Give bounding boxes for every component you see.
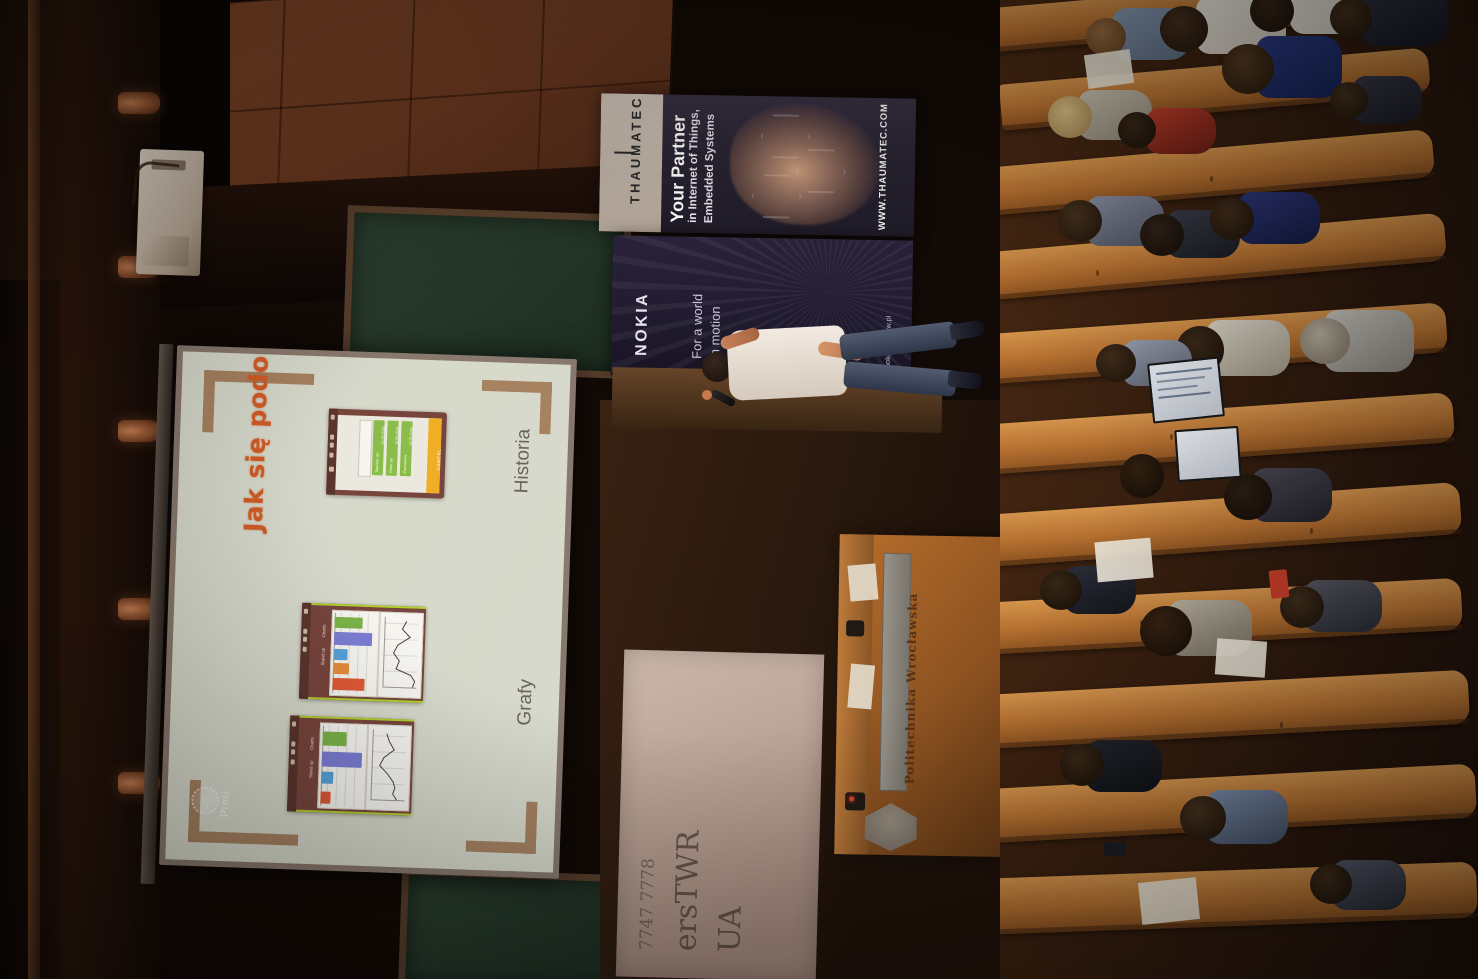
clock-icon	[304, 609, 308, 614]
wifi-icon	[330, 443, 334, 448]
battery-icon	[291, 759, 295, 764]
phone-mock-charts-2: Stand up Charts	[287, 715, 414, 815]
wall-lamp	[118, 92, 160, 114]
list-item[interactable]: Retro spr. 16.05.2015	[386, 421, 399, 476]
wall-lamp	[118, 420, 160, 442]
prezi-seal-icon	[191, 786, 220, 815]
battery-icon	[329, 453, 333, 458]
line-chart-path	[366, 725, 411, 810]
clock-icon	[331, 415, 335, 420]
signal-icon	[291, 741, 295, 746]
list-item[interactable]: Standup spr. 14.05.2015	[372, 420, 385, 475]
bar-chart	[329, 610, 380, 698]
projection-screen: Jak się podobało Historia Grafy Focus Me…	[159, 345, 577, 879]
smartphone[interactable]	[1104, 842, 1126, 856]
lecture-hall-photo: Jak się podobało Historia Grafy Focus Me…	[0, 0, 1478, 979]
bar-chart	[317, 722, 368, 810]
frame-bracket	[188, 831, 298, 846]
cancel-button[interactable]: CANCEL	[426, 418, 442, 493]
wall-rail	[28, 0, 40, 979]
lectern-plaque: Politechnika Wrocławska	[879, 553, 911, 791]
phone-mock-focus-meter: Focus Meter Your previous meetings Stand…	[326, 409, 447, 499]
whiteboard: UA ersTWR 7747 7778	[616, 649, 824, 979]
frame-bracket	[539, 382, 552, 434]
paper-sheet	[1215, 638, 1267, 677]
wifi-icon	[303, 637, 307, 642]
presenter-legs	[840, 324, 970, 400]
search-input[interactable]	[358, 420, 373, 477]
university-crest-icon	[864, 803, 917, 852]
whiteboard-text-1: UA	[712, 906, 748, 953]
line-chart	[365, 724, 412, 811]
projector-mount	[132, 160, 179, 209]
accent-bar	[311, 603, 426, 609]
banner-url: WWW.THAUMATEC.COM	[877, 103, 890, 230]
clock-icon	[292, 721, 296, 726]
accent-bar	[299, 716, 414, 722]
phone-status-bar	[287, 715, 299, 811]
chart-phone-subheader: Charts	[309, 737, 314, 750]
prezi-slide: Jak się podobało Historia Grafy Focus Me…	[165, 351, 570, 872]
nokia-logo: NOKIA	[633, 292, 652, 356]
chart-phone-header: Stand up	[308, 760, 314, 778]
bar-neutral	[334, 632, 372, 646]
slide-title: Jak się podobało	[239, 351, 276, 532]
frame-bracket	[525, 802, 538, 854]
banner-logo-panel: THAUMATEC	[599, 93, 663, 232]
paper-sheet	[1138, 877, 1200, 925]
paper-sheet	[1094, 538, 1153, 583]
line-chart-path	[378, 612, 423, 697]
bench-row	[1000, 862, 1478, 935]
bar-neutral	[322, 751, 362, 767]
slide-label-historia: Historia	[511, 429, 535, 494]
signal-icon	[303, 629, 307, 634]
thaumatec-logo: THAUMATEC	[627, 95, 644, 204]
app-body: Standup spr. 14.05.2015 Retro spr. 16.05…	[335, 415, 442, 494]
bar-engaged	[334, 617, 362, 629]
prezi-logo: Prezi	[184, 770, 242, 828]
bar-engaged	[322, 731, 346, 746]
prezi-wordmark: Prezi	[219, 791, 232, 818]
papers	[847, 664, 875, 710]
battery-icon	[303, 647, 307, 652]
presenter	[700, 310, 1000, 420]
clock-icon	[329, 467, 334, 472]
control-panel[interactable]	[846, 620, 864, 636]
paper-sheet	[1084, 49, 1134, 89]
slide-label-grafy: Grafy	[514, 679, 538, 726]
phone-mock-charts-1: Stand up Charts	[299, 603, 426, 703]
wifi-icon	[291, 749, 295, 754]
hand-photo	[729, 104, 881, 227]
banner-thaumatec: THAUMATEC Your Partner in Internet of Th…	[599, 93, 916, 236]
whiteboard-text-3: 7747 7778	[636, 858, 658, 950]
bar-absent	[332, 678, 364, 691]
frame-bracket	[202, 370, 215, 432]
bench-row	[1000, 670, 1470, 749]
bar-bored	[333, 649, 347, 660]
control-panel[interactable]	[845, 792, 865, 810]
banner-line3: Embedded Systems	[703, 114, 717, 223]
line-chart	[377, 611, 424, 698]
chart-phone-header: Stand up	[320, 648, 326, 666]
signal-icon	[330, 435, 334, 440]
list-item[interactable]: Planowanie 20.05.2015	[400, 421, 413, 476]
papers	[847, 563, 878, 601]
chart-phone-subheader: Charts	[321, 624, 326, 637]
banner-line2: in Internet of Things,	[687, 109, 701, 223]
bar-bored	[321, 771, 333, 783]
whiteboard-text-2: ersTWR	[668, 830, 706, 952]
power-led	[849, 796, 854, 801]
bar-absent	[320, 791, 330, 803]
audience-seating	[1000, 0, 1478, 979]
red-book	[1269, 569, 1290, 599]
tablet-device[interactable]	[1147, 356, 1225, 423]
tablet-device[interactable]	[1174, 426, 1241, 482]
microphone-hand	[702, 390, 712, 400]
lectern-plaque-text: Politechnika Wrocławska	[902, 593, 919, 785]
thaumatec-logo-mark	[614, 151, 634, 153]
phone-status-bar	[299, 603, 311, 699]
bar-distracted	[333, 663, 349, 675]
